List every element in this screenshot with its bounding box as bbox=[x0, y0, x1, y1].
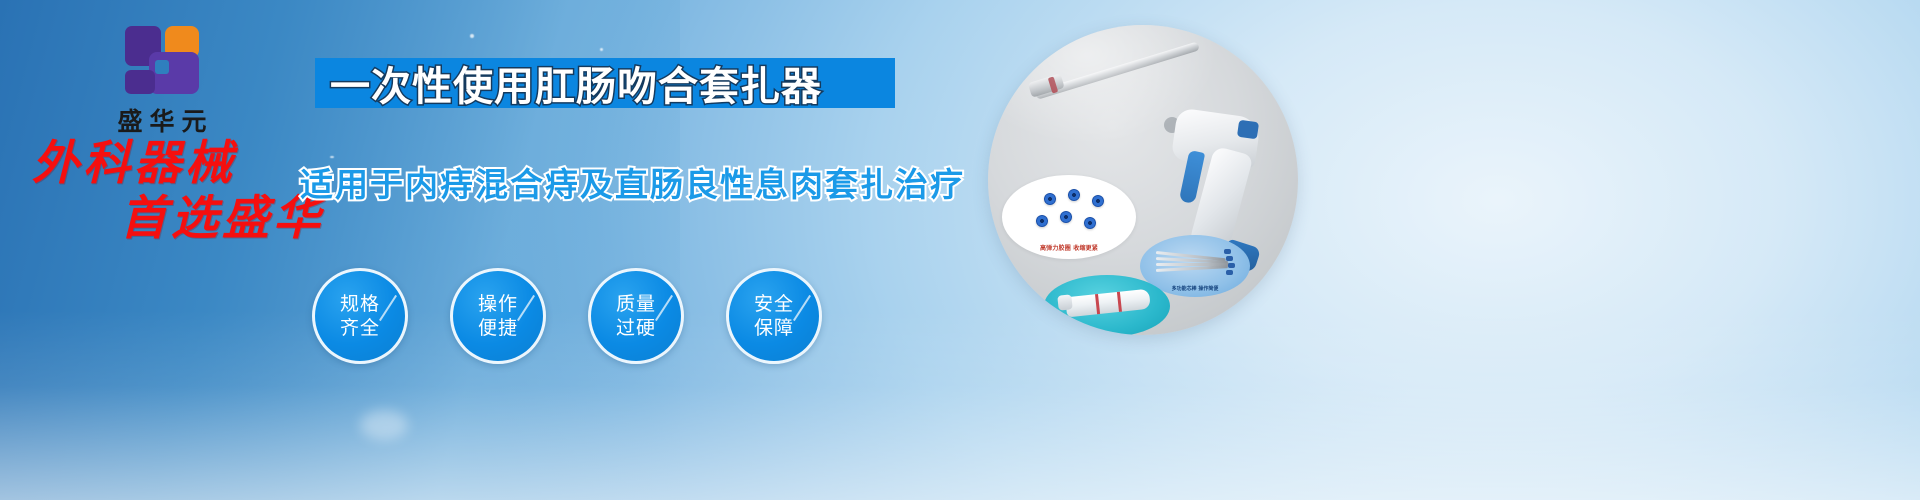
slash-accent-icon bbox=[379, 295, 397, 321]
page-title: 一次性使用肛肠吻合套扎器 bbox=[330, 54, 930, 112]
feature-badge-safety[interactable]: 安全 保障 bbox=[726, 268, 822, 364]
feature-label-line1: 安全 bbox=[754, 292, 794, 316]
device-barrel bbox=[1035, 41, 1200, 99]
feature-label-line1: 规格 bbox=[340, 292, 380, 316]
device-button bbox=[1237, 120, 1259, 140]
tube-body bbox=[1065, 289, 1151, 318]
feature-badge-operation[interactable]: 操作 便捷 bbox=[450, 268, 546, 364]
brand-logo[interactable]: 盛华元 bbox=[62, 24, 262, 138]
tube-cap bbox=[1057, 294, 1072, 310]
feature-label-line2: 齐全 bbox=[340, 316, 380, 340]
product-photo: 高弹力胶圈 收缩更紧 多功能芯棒 操作简便 bbox=[988, 25, 1298, 335]
feature-label-line1: 操作 bbox=[478, 292, 518, 316]
promo-banner: 盛华元 外科器械 首选盛华 一次性使用肛肠吻合套扎器 适用于内痔混合痔及直肠良性… bbox=[0, 0, 1920, 500]
logo-mark-icon bbox=[119, 24, 205, 96]
slash-accent-icon bbox=[655, 295, 673, 321]
feature-badge-list: 规格 齐全 操作 便捷 质量 过硬 安全 保障 bbox=[312, 268, 822, 364]
page-subtitle: 适用于内痔混合痔及直肠良性息肉套扎治疗 bbox=[300, 158, 940, 206]
brand-name: 盛华元 bbox=[62, 102, 262, 138]
rubber-bands-inset: 高弹力胶圈 收缩更紧 bbox=[1002, 175, 1136, 259]
background-sparkles bbox=[0, 0, 1920, 500]
slash-accent-icon bbox=[793, 295, 811, 321]
ligation-tube-inset bbox=[1044, 275, 1170, 335]
rubber-bands-label: 高弹力胶圈 收缩更紧 bbox=[1002, 243, 1136, 252]
feature-badge-specification[interactable]: 规格 齐全 bbox=[312, 268, 408, 364]
feature-label-line2: 保障 bbox=[754, 316, 794, 340]
feature-label-line2: 过硬 bbox=[616, 316, 656, 340]
feature-label-line1: 质量 bbox=[616, 292, 656, 316]
feature-label-line2: 便捷 bbox=[478, 316, 518, 340]
feature-badge-quality[interactable]: 质量 过硬 bbox=[588, 268, 684, 364]
slash-accent-icon bbox=[517, 295, 535, 321]
